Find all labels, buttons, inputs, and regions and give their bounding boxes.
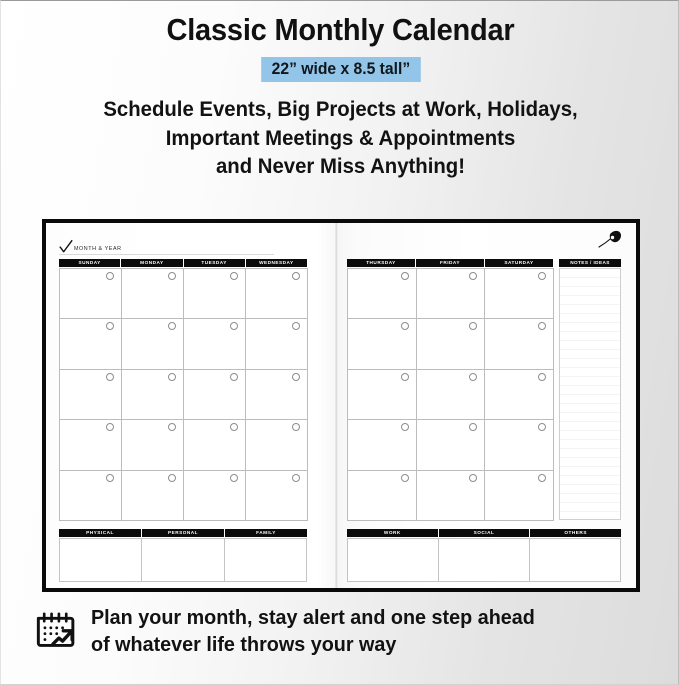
- category-header-physical: PHYSICAL: [59, 529, 142, 537]
- weekday-header-saturday: SATURDAY: [485, 259, 553, 267]
- category-header-social: SOCIAL: [439, 529, 531, 537]
- date-circle: [168, 474, 176, 482]
- date-circle: [168, 322, 176, 330]
- date-circle: [401, 474, 409, 482]
- calendar-right-page: THURSDAY FRIDAY SATURDAY NOTES / IDEAS W…: [338, 223, 636, 588]
- notes-ideas-header: NOTES / IDEAS: [559, 259, 621, 267]
- day-cell: [246, 319, 308, 369]
- day-cell: [122, 319, 184, 369]
- date-circle: [538, 474, 546, 482]
- footer-tagline: Plan your month, stay alert and one step…: [91, 605, 535, 659]
- category-box-family: [225, 539, 306, 581]
- category-box-social: [439, 539, 530, 581]
- date-circle: [469, 474, 477, 482]
- check-icon: [59, 239, 73, 254]
- day-cell: [60, 420, 122, 470]
- date-circle: [106, 322, 114, 330]
- day-cell: [60, 471, 122, 521]
- day-cell: [485, 471, 554, 521]
- weekday-header-row-right: THURSDAY FRIDAY SATURDAY: [347, 259, 553, 267]
- weekday-header-tuesday: TUESDAY: [184, 259, 246, 267]
- date-circle: [106, 423, 114, 431]
- footer-tagline-line-2: of whatever life throws your way: [91, 632, 535, 659]
- headline-block: Classic Monthly Calendar 22” wide x 8.5 …: [1, 13, 679, 180]
- date-circle: [538, 373, 546, 381]
- category-box-work: [348, 539, 439, 581]
- date-circle: [538, 322, 546, 330]
- date-circle: [401, 423, 409, 431]
- date-circle: [469, 322, 477, 330]
- day-cell: [246, 370, 308, 420]
- day-cell: [122, 471, 184, 521]
- footer-promo: Plan your month, stay alert and one step…: [31, 605, 651, 659]
- category-boxes-left: [59, 538, 307, 582]
- day-grid-right: [347, 268, 554, 521]
- calendar-left-page: MONTH & YEAR SUNDAY MONDAY TUESDAY WEDNE…: [46, 223, 336, 588]
- day-cell: [246, 420, 308, 470]
- date-circle: [230, 272, 238, 280]
- date-circle: [469, 272, 477, 280]
- day-cell: [417, 420, 486, 470]
- day-cell: [184, 370, 246, 420]
- day-cell: [417, 370, 486, 420]
- date-circle: [292, 272, 300, 280]
- subheadline-line-2: Important Meetings & Appointments: [16, 124, 664, 152]
- calendar-preview-frame: MONTH & YEAR SUNDAY MONDAY TUESDAY WEDNE…: [42, 219, 640, 592]
- date-circle: [401, 272, 409, 280]
- category-header-family: FAMILY: [225, 529, 307, 537]
- day-cell: [485, 370, 554, 420]
- category-boxes-right: [347, 538, 621, 582]
- category-header-personal: PERSONAL: [142, 529, 225, 537]
- subheadline: Schedule Events, Big Projects at Work, H…: [16, 95, 664, 180]
- day-cell: [122, 420, 184, 470]
- day-cell: [184, 471, 246, 521]
- day-cell: [417, 471, 486, 521]
- date-circle: [230, 322, 238, 330]
- subheadline-line-1: Schedule Events, Big Projects at Work, H…: [16, 95, 664, 123]
- category-header-row-right: WORK SOCIAL OTHERS: [347, 529, 621, 537]
- day-cell: [60, 370, 122, 420]
- date-circle: [401, 322, 409, 330]
- day-cell: [485, 319, 554, 369]
- day-cell: [348, 370, 417, 420]
- weekday-header-sunday: SUNDAY: [59, 259, 121, 267]
- category-header-row-left: PHYSICAL PERSONAL FAMILY: [59, 529, 307, 537]
- date-circle: [538, 423, 546, 431]
- footer-tagline-line-1: Plan your month, stay alert and one step…: [91, 605, 535, 632]
- day-cell: [184, 319, 246, 369]
- weekday-header-friday: FRIDAY: [416, 259, 485, 267]
- day-cell: [485, 269, 554, 319]
- category-box-personal: [142, 539, 224, 581]
- date-circle: [106, 474, 114, 482]
- day-cell: [348, 319, 417, 369]
- day-cell: [184, 420, 246, 470]
- date-circle: [106, 373, 114, 381]
- date-circle: [469, 373, 477, 381]
- date-circle: [230, 423, 238, 431]
- page-title: Classic Monthly Calendar: [18, 13, 663, 49]
- date-circle: [401, 373, 409, 381]
- date-circle: [292, 474, 300, 482]
- weekday-header-monday: MONDAY: [121, 259, 183, 267]
- date-circle: [292, 322, 300, 330]
- category-box-physical: [60, 539, 142, 581]
- weekday-header-wednesday: WEDNESDAY: [246, 259, 307, 267]
- day-cell: [485, 420, 554, 470]
- size-badge-wrapper: 22” wide x 8.5 tall”: [1, 57, 679, 82]
- day-cell: [122, 370, 184, 420]
- date-circle: [230, 373, 238, 381]
- day-cell: [122, 269, 184, 319]
- day-cell: [348, 269, 417, 319]
- day-cell: [348, 471, 417, 521]
- category-box-others: [530, 539, 620, 581]
- date-circle: [292, 373, 300, 381]
- date-circle: [538, 272, 546, 280]
- date-circle: [168, 373, 176, 381]
- date-circle: [168, 423, 176, 431]
- day-cell: [348, 420, 417, 470]
- date-circle: [106, 272, 114, 280]
- day-cell: [60, 269, 122, 319]
- day-cell: [246, 269, 308, 319]
- notes-ideas-panel: [559, 268, 621, 520]
- pushpin-icon: [597, 229, 623, 249]
- date-circle: [292, 423, 300, 431]
- subheadline-line-3: and Never Miss Anything!: [16, 152, 664, 180]
- category-header-work: WORK: [347, 529, 439, 537]
- weekday-header-row-left: SUNDAY MONDAY TUESDAY WEDNESDAY: [59, 259, 307, 267]
- day-cell: [417, 319, 486, 369]
- month-year-label: MONTH & YEAR: [74, 246, 122, 254]
- date-circle: [230, 474, 238, 482]
- product-listing-image: Classic Monthly Calendar 22” wide x 8.5 …: [0, 0, 679, 685]
- weekday-header-thursday: THURSDAY: [347, 259, 416, 267]
- day-cell: [184, 269, 246, 319]
- calendar-trending-up-icon: [31, 608, 78, 655]
- date-circle: [469, 423, 477, 431]
- day-grid-left: [59, 268, 308, 521]
- day-cell: [417, 269, 486, 319]
- day-cell: [246, 471, 308, 521]
- category-header-others: OTHERS: [530, 529, 621, 537]
- month-year-field: MONTH & YEAR: [59, 236, 274, 255]
- day-cell: [60, 319, 122, 369]
- size-badge: 22” wide x 8.5 tall”: [261, 57, 420, 82]
- date-circle: [168, 272, 176, 280]
- calendar-spread: MONTH & YEAR SUNDAY MONDAY TUESDAY WEDNE…: [46, 223, 636, 588]
